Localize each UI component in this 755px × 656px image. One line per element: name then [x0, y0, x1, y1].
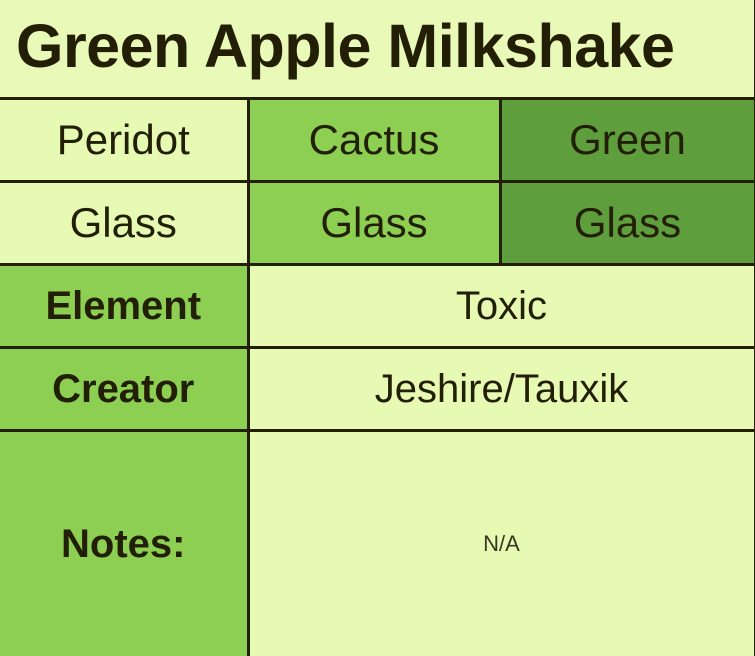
infobox-table: Green Apple Milkshake Peridot Cactus Gre…	[0, 0, 755, 656]
attribute-value-text-creator: Jeshire/Tauxik	[375, 367, 628, 411]
title-row: Green Apple Milkshake	[0, 0, 755, 99]
attribute-label-text-element: Element	[45, 284, 201, 328]
page-title: Green Apple Milkshake	[16, 14, 754, 78]
notes-label-cell: Notes:	[0, 431, 248, 656]
attribute-label-text-creator: Creator	[52, 367, 194, 411]
swatch-cell-2: Cactus	[248, 99, 500, 182]
attribute-label-creator: Creator	[0, 348, 248, 431]
swatch-cell-1: Peridot	[0, 99, 248, 182]
attribute-value-creator: Jeshire/Tauxik	[248, 348, 755, 431]
material-cell-2: Glass	[248, 182, 500, 265]
notes-value-cell: N/A	[248, 431, 755, 656]
material-cell-1: Glass	[0, 182, 248, 265]
attribute-value-text-element: Toxic	[456, 284, 547, 328]
swatch-cell-3: Green	[500, 99, 755, 182]
attribute-label-element: Element	[0, 265, 248, 348]
notes-value-text: N/A	[483, 531, 520, 556]
material-cell-3: Glass	[500, 182, 755, 265]
material-label-1: Glass	[70, 199, 177, 246]
material-label-3: Glass	[574, 199, 681, 246]
attribute-row-creator: Creator Jeshire/Tauxik	[0, 348, 755, 431]
swatch-name-row: Peridot Cactus Green	[0, 99, 755, 182]
attribute-value-element: Toxic	[248, 265, 755, 348]
swatch-label-3: Green	[569, 116, 686, 163]
notes-row: Notes: N/A	[0, 431, 755, 656]
material-row: Glass Glass Glass	[0, 182, 755, 265]
infobox-title-cell: Green Apple Milkshake	[0, 0, 755, 99]
swatch-label-1: Peridot	[57, 116, 190, 163]
swatch-label-2: Cactus	[309, 116, 440, 163]
attribute-row-element: Element Toxic	[0, 265, 755, 348]
material-label-2: Glass	[320, 199, 427, 246]
notes-label-text: Notes:	[61, 522, 185, 566]
